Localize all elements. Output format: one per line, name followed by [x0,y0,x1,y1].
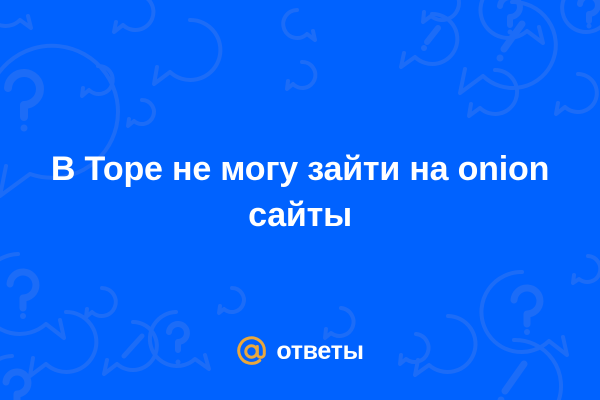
bubble-plain-1 [154,20,220,84]
bubble-exclaim-1 [401,14,457,67]
bubble-plain-14 [325,308,354,338]
bubble-question-1 [480,0,543,43]
title-container: В Торе не могу зайти на onion сайты [0,146,600,238]
bubble-exclaim-large [460,2,556,93]
bubble-plain-7 [283,10,315,40]
brand-logo[interactable]: ответы [0,336,600,367]
share-card: В Торе не могу зайти на onion сайты отве… [0,0,600,400]
at-icon [236,336,267,367]
bubble-plain-6 [287,62,315,89]
bubble-plain-3 [0,0,31,28]
bubble-question-3 [0,254,64,338]
page-title: В Торе не могу зайти на onion сайты [22,146,578,238]
bubble-plain-4 [82,66,113,96]
bubble-plain-17 [573,256,600,283]
bubble-plain-9 [556,74,597,114]
bubble-plain-13 [219,288,244,313]
bubble-plain-10 [469,70,517,116]
bubble-plain-11 [86,288,116,317]
bubble-plain-5 [128,100,154,126]
brand-name: ответы [276,339,363,364]
bubble-question-2 [562,0,600,36]
bubble-plain-2 [114,0,153,32]
bubble-plain-8 [423,0,459,22]
